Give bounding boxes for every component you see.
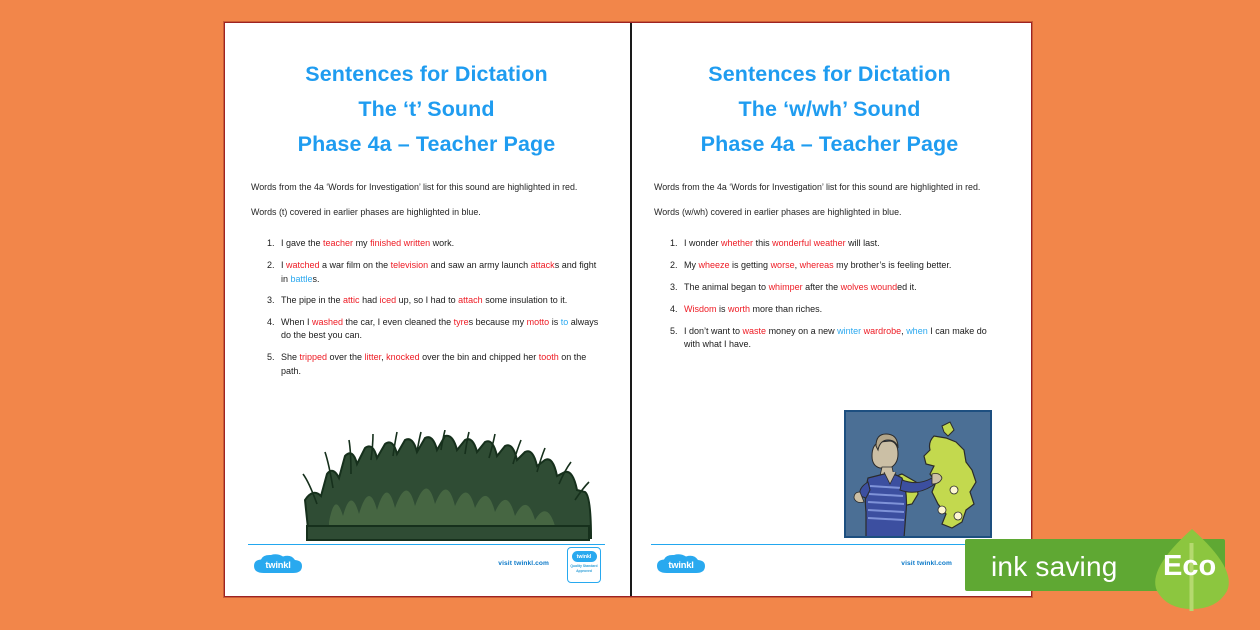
sentence-item: She tripped over the litter, knocked ove… bbox=[277, 351, 602, 378]
sentence-text: The animal began to bbox=[684, 282, 769, 292]
sentence-text: a war film on the bbox=[320, 260, 391, 270]
sentence-text: over the bbox=[327, 352, 365, 362]
sentence-text: money on a new bbox=[766, 326, 837, 336]
highlighted-word-red: worth bbox=[728, 304, 750, 314]
highlighted-word-red: whimper bbox=[769, 282, 803, 292]
illustration-slot bbox=[251, 386, 602, 544]
sentence-text: after the bbox=[803, 282, 841, 292]
document-spread: Sentences for Dictation The ‘t’ Sound Ph… bbox=[224, 22, 1032, 597]
sentence-list: I wonder whether this wonderful weather … bbox=[654, 237, 1005, 359]
title-line-3: Phase 4a – Teacher Page bbox=[251, 127, 602, 162]
sentence-text: will last. bbox=[846, 238, 880, 248]
sentence-item: I don’t want to waste money on a new win… bbox=[680, 325, 1005, 352]
sentence-text: s. bbox=[313, 274, 320, 284]
sentence-text: over the bin and chipped her bbox=[420, 352, 539, 362]
title-line-1: Sentences for Dictation bbox=[251, 57, 602, 92]
highlighted-word-red: wonderful weather bbox=[772, 238, 846, 248]
badge-cloud-icon: twinkl bbox=[572, 551, 597, 562]
sentence-list: I gave the teacher my finished written w… bbox=[251, 237, 602, 386]
highlighted-word-red: watched bbox=[286, 260, 320, 270]
highlighted-word-red: motto bbox=[527, 317, 550, 327]
sentence-text: my brother’s is feeling better. bbox=[834, 260, 952, 270]
visit-twinkl-link[interactable]: visit twinkl.com bbox=[498, 560, 549, 567]
intro-paragraph-red: Words from the 4a ‘Words for Investigati… bbox=[251, 181, 602, 194]
sentence-text: this bbox=[753, 238, 772, 248]
sentence-item: Wisdom is worth more than riches. bbox=[680, 303, 1005, 316]
highlighted-word-blue: battle bbox=[291, 274, 313, 284]
highlighted-word-red: waste bbox=[743, 326, 767, 336]
quality-standard-badge: twinkl Quality Standard Approved bbox=[567, 547, 601, 583]
sentence-text: My bbox=[684, 260, 699, 270]
grass-illustration bbox=[299, 430, 599, 542]
sentence-text: more than riches. bbox=[750, 304, 822, 314]
highlighted-word-red: wardrobe bbox=[864, 326, 902, 336]
page-title: Sentences for Dictation The ‘t’ Sound Ph… bbox=[251, 57, 602, 162]
sentence-item: I wonder whether this wonderful weather … bbox=[680, 237, 1005, 250]
highlighted-word-red: tooth bbox=[539, 352, 559, 362]
twinkl-logo-text: twinkl bbox=[655, 553, 707, 575]
highlighted-word-red: teacher bbox=[323, 238, 353, 248]
sentence-text: my bbox=[353, 238, 370, 248]
eco-label: Eco bbox=[1163, 550, 1216, 583]
sentence-text: is bbox=[717, 304, 729, 314]
twinkl-logo-text: twinkl bbox=[252, 553, 304, 575]
sentence-text: and saw an army launch bbox=[428, 260, 531, 270]
page-left: Sentences for Dictation The ‘t’ Sound Ph… bbox=[225, 23, 628, 596]
page-right: Sentences for Dictation The ‘w/wh’ Sound… bbox=[628, 23, 1031, 596]
ink-saving-label: ink saving bbox=[991, 551, 1118, 583]
highlighted-word-red: whereas bbox=[800, 260, 834, 270]
highlighted-word-red: television bbox=[391, 260, 429, 270]
sentence-item: The pipe in the attic had iced up, so I … bbox=[277, 294, 602, 307]
sentence-text: had bbox=[360, 295, 380, 305]
highlighted-word-red: litter bbox=[365, 352, 382, 362]
title-line-3: Phase 4a – Teacher Page bbox=[654, 127, 1005, 162]
highlighted-word-red: washed bbox=[312, 317, 343, 327]
page-title: Sentences for Dictation The ‘w/wh’ Sound… bbox=[654, 57, 1005, 162]
sentence-text: the car, I even cleaned the bbox=[343, 317, 454, 327]
twinkl-logo[interactable]: twinkl bbox=[252, 553, 304, 575]
sentence-text: s because my bbox=[469, 317, 527, 327]
sentence-text: She bbox=[281, 352, 300, 362]
highlighted-word-red: finished written bbox=[370, 238, 430, 248]
highlighted-word-red: attach bbox=[458, 295, 483, 305]
badge-caption: Quality Standard Approved bbox=[568, 564, 600, 573]
sentence-text: The pipe in the bbox=[281, 295, 343, 305]
intro-paragraph-red: Words from the 4a ‘Words for Investigati… bbox=[654, 181, 1005, 194]
sentence-text: is bbox=[549, 317, 561, 327]
highlighted-word-red: whether bbox=[721, 238, 753, 248]
sentence-item: When I washed the car, I even cleaned th… bbox=[277, 316, 602, 343]
intro-paragraph-blue: Words (t) covered in earlier phases are … bbox=[251, 206, 602, 219]
title-line-1: Sentences for Dictation bbox=[654, 57, 1005, 92]
page-gutter-divider bbox=[630, 23, 632, 596]
sentence-text: I wonder bbox=[684, 238, 721, 248]
highlighted-word-red: wheeze bbox=[699, 260, 730, 270]
weather-presenter-illustration bbox=[844, 410, 992, 538]
sentence-text: is getting bbox=[730, 260, 771, 270]
highlighted-word-blue: winter bbox=[837, 326, 861, 336]
highlighted-word-red: wolves wound bbox=[841, 282, 898, 292]
sentence-item: My wheeze is getting worse, whereas my b… bbox=[680, 259, 1005, 272]
sentence-text: work. bbox=[430, 238, 454, 248]
sentence-text: ed it. bbox=[897, 282, 917, 292]
highlighted-word-red: tripped bbox=[300, 352, 328, 362]
sentence-item: I watched a war film on the television a… bbox=[277, 259, 602, 286]
sentence-text: some insulation to it. bbox=[483, 295, 568, 305]
weather-map-scene bbox=[846, 412, 992, 538]
highlighted-word-red: iced bbox=[380, 295, 397, 305]
sentence-text: When I bbox=[281, 317, 312, 327]
highlighted-word-red: attic bbox=[343, 295, 360, 305]
sentence-text: I gave the bbox=[281, 238, 323, 248]
page-footer: twinkl visit twinkl.com twinkl Quality S… bbox=[248, 544, 605, 596]
illustration-slot bbox=[654, 360, 1005, 544]
title-line-2: The ‘t’ Sound bbox=[251, 92, 602, 127]
title-line-2: The ‘w/wh’ Sound bbox=[654, 92, 1005, 127]
highlighted-word-red: attack bbox=[531, 260, 555, 270]
highlighted-word-red: Wisdom bbox=[684, 304, 717, 314]
sentence-item: I gave the teacher my finished written w… bbox=[277, 237, 602, 250]
intro-paragraph-blue: Words (w/wh) covered in earlier phases a… bbox=[654, 206, 1005, 219]
visit-twinkl-link[interactable]: visit twinkl.com bbox=[901, 560, 952, 567]
ink-saving-eco-badge: ink saving Eco bbox=[965, 531, 1260, 599]
page-footer: twinkl visit twinkl.com bbox=[651, 544, 1008, 596]
highlighted-word-blue: when bbox=[906, 326, 928, 336]
sentence-text: up, so I had to bbox=[396, 295, 458, 305]
highlighted-word-red: tyre bbox=[454, 317, 469, 327]
sentence-text: I don’t want to bbox=[684, 326, 743, 336]
twinkl-logo[interactable]: twinkl bbox=[655, 553, 707, 575]
highlighted-word-red: knocked bbox=[386, 352, 420, 362]
highlighted-word-red: worse bbox=[771, 260, 795, 270]
sentence-item: The animal began to whimper after the wo… bbox=[680, 281, 1005, 294]
